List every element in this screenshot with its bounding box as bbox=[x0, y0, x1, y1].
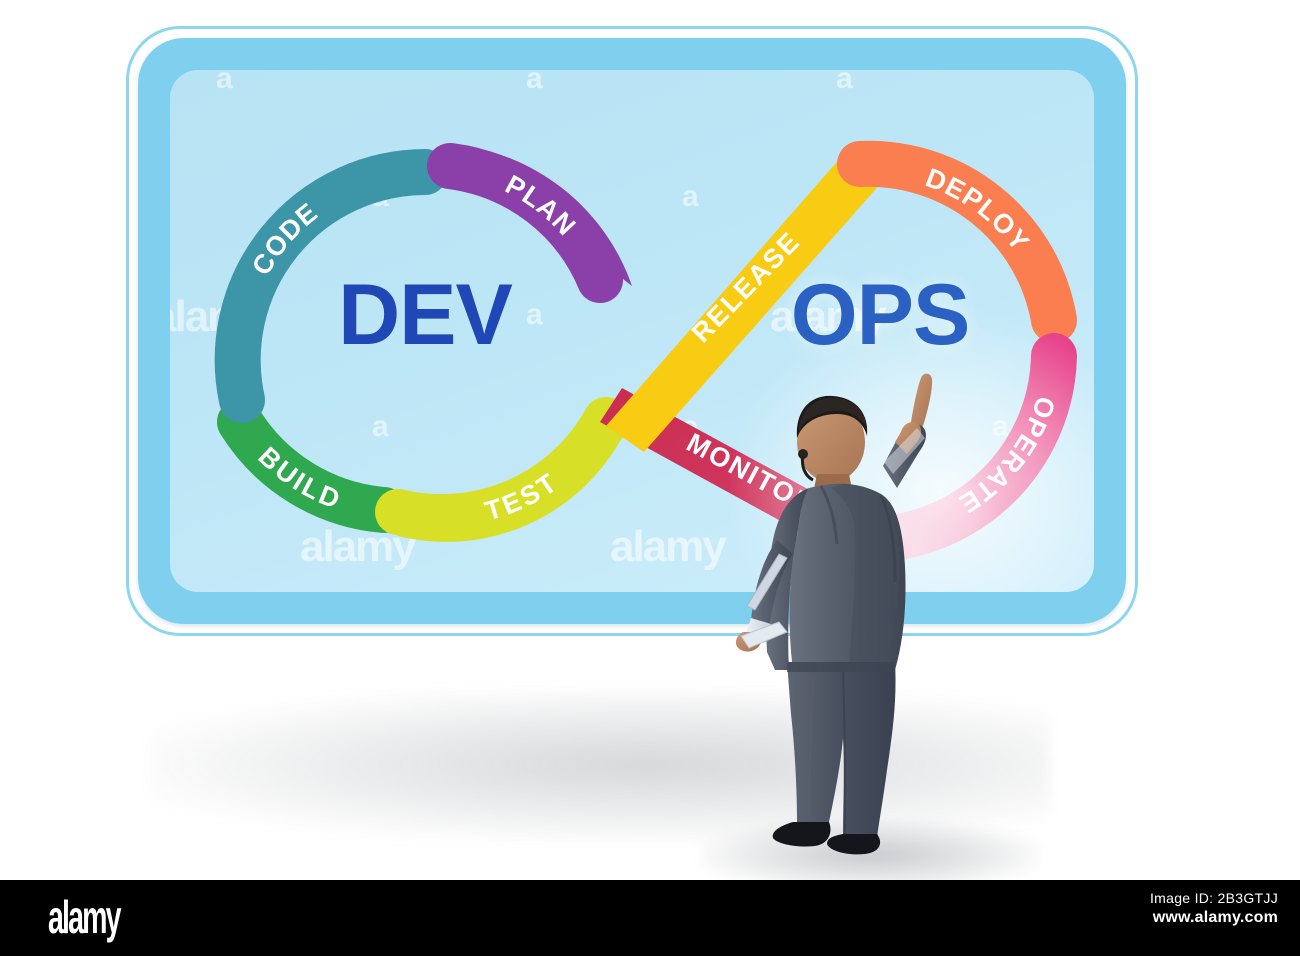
alamy-footer-bar: alamy Image ID: 2B3GTJJ www.alamy.com bbox=[0, 880, 1300, 956]
stage-arc-plan: PLAN bbox=[450, 144, 632, 286]
board-panel: a a a a a a alamy a alamy a a a alamy al… bbox=[170, 70, 1094, 592]
trousers bbox=[787, 662, 896, 838]
stage-arc-operate: OPERATE bbox=[904, 356, 1061, 536]
board-floor-shadow bbox=[150, 690, 1050, 840]
alamy-url: www.alamy.com bbox=[1150, 909, 1278, 927]
footer-meta: Image ID: 2B3GTJJ www.alamy.com bbox=[1150, 890, 1278, 927]
shoes bbox=[773, 822, 880, 854]
dev-title: DEV bbox=[310, 266, 540, 365]
stage-arc-build: BUILD bbox=[240, 422, 384, 515]
stage-arc-test: TEST bbox=[398, 408, 632, 542]
belt bbox=[787, 662, 895, 672]
screenshot-root: a a a a a a alamy a alamy a a a alamy al… bbox=[0, 0, 1300, 956]
image-id-text: Image ID: 2B3GTJJ bbox=[1150, 890, 1278, 906]
alamy-logo: alamy bbox=[48, 890, 120, 944]
ops-title: OPS bbox=[765, 266, 995, 365]
